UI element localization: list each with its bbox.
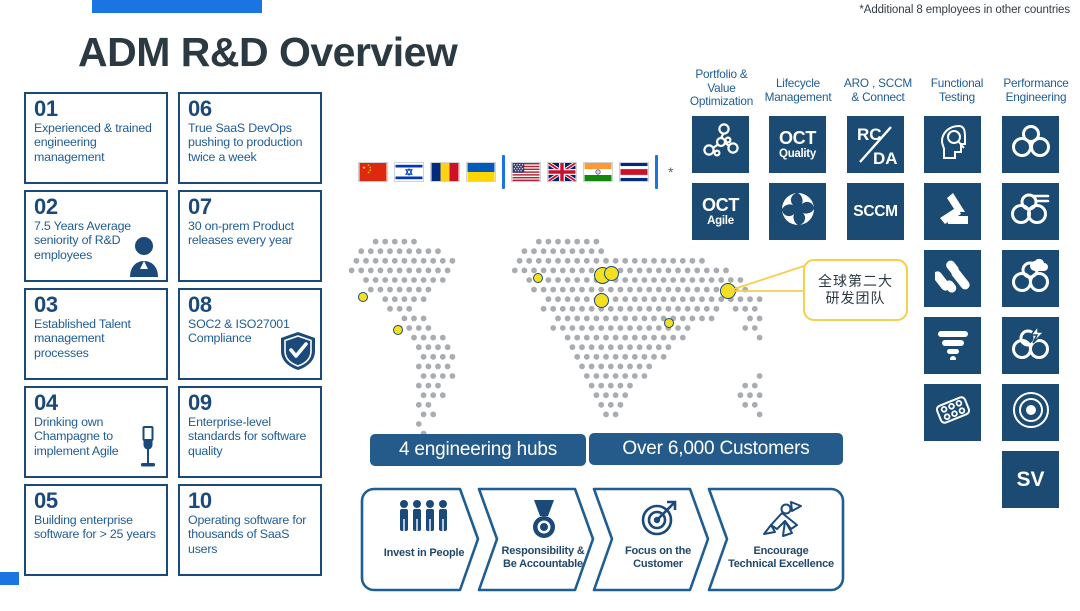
tile-triangle-blocks[interactable]	[924, 183, 981, 240]
card-number: 04	[34, 391, 160, 414]
card-text: 30 on-prem Product releases every year	[188, 219, 314, 248]
card-05[interactable]: 05 Building enterprise software for > 25…	[24, 484, 168, 576]
tile-winged-loops[interactable]	[1002, 183, 1059, 240]
banner-engineering-hubs: 4 engineering hubs	[370, 434, 586, 466]
card-row: 03 Established Talent management process…	[24, 288, 337, 380]
tile-diagonal-bars[interactable]	[924, 250, 981, 307]
value-focus-customer[interactable]: Focus on the Customer	[590, 487, 718, 592]
tile-oct-quality[interactable]: OCT Quality	[769, 116, 826, 173]
card-06[interactable]: 06 True SaaS DevOps pushing to productio…	[178, 92, 322, 184]
costa-rica-flag	[619, 162, 649, 182]
map-pin-south-america	[393, 325, 403, 335]
card-number: 09	[188, 391, 314, 414]
tile-funnel-filter[interactable]	[924, 317, 981, 374]
concentric-target-icon	[1012, 391, 1050, 434]
card-text: Experienced & trained engineering manage…	[34, 121, 160, 164]
china-flag	[358, 162, 388, 182]
network-nodes-icon	[702, 123, 740, 166]
winged-loops-icon	[1010, 192, 1052, 231]
card-02[interactable]: 02 7.5 Years Average seniority of R&D em…	[24, 190, 168, 282]
country-flags: *	[358, 155, 673, 189]
tile-sv[interactable]: SV	[1002, 451, 1059, 508]
footnote-text: *Additional 8 employees in other countri…	[859, 4, 1070, 16]
tile-label: OCT Agile	[702, 196, 739, 228]
card-row: 02 7.5 Years Average seniority of R&D em…	[24, 190, 337, 282]
india-flag	[583, 162, 613, 182]
card-number: 06	[188, 97, 314, 120]
card-number: 02	[34, 195, 160, 218]
tile-label: SCCM	[853, 203, 897, 221]
tile-lightning-loops[interactable]	[1002, 317, 1059, 374]
bottom-accent-mark	[0, 572, 19, 585]
grid-header-lifecycle: Lifecycle Management	[758, 77, 838, 104]
tile-oct-agile[interactable]: OCT Agile	[692, 183, 749, 240]
person-icon	[124, 233, 164, 282]
israel-flag	[394, 162, 424, 182]
card-08[interactable]: 08 SOC2 & ISO27001 Compliance	[178, 288, 322, 380]
head-profile-icon	[937, 123, 969, 166]
card-03[interactable]: 03 Established Talent management process…	[24, 288, 168, 380]
map-pin-europe-b	[604, 266, 619, 281]
champagne-glass-icon	[138, 425, 158, 474]
value-technical-excellence[interactable]: Encourage Technical Excellence	[705, 487, 845, 592]
tile-rc-da[interactable]: RC DA	[847, 116, 904, 173]
usa-flag	[511, 162, 541, 182]
medal-icon	[528, 499, 560, 546]
grid-header-aro-sccm: ARO , SCCM & Connect	[836, 77, 920, 104]
lightning-loops-icon	[1011, 325, 1051, 366]
tile-lifecycle-swirl[interactable]	[769, 183, 826, 240]
card-01[interactable]: 01 Experienced & trained engineering man…	[24, 92, 168, 184]
card-row: 04 Drinking own Champagne to implement A…	[24, 386, 337, 478]
funnel-filter-icon	[936, 326, 970, 365]
dotted-tablet-icon	[934, 394, 972, 431]
tile-cloud-loops[interactable]	[1002, 250, 1059, 307]
card-row: 01 Experienced & trained engineering man…	[24, 92, 337, 184]
value-invest-in-people[interactable]: Invest in People	[360, 487, 488, 592]
card-number: 07	[188, 195, 314, 218]
card-number: 01	[34, 97, 160, 120]
grid-header-functional-testing: Functional Testing	[918, 77, 996, 104]
value-label: Focus on the Customer	[604, 545, 712, 571]
uk-flag	[547, 162, 577, 182]
value-label: Invest in People	[360, 547, 488, 560]
grid-header-performance-engineering: Performance Engineering	[992, 77, 1080, 104]
card-07[interactable]: 07 30 on-prem Product releases every yea…	[178, 190, 322, 282]
callout-line-1: 全球第二大	[818, 273, 893, 291]
world-dot-map	[340, 228, 770, 443]
cloud-loops-icon	[1011, 258, 1051, 299]
shield-check-icon	[280, 331, 316, 376]
trefoil-loops-icon	[1011, 125, 1051, 164]
swirl-spiral-icon	[780, 191, 816, 232]
value-responsibility[interactable]: Responsibility & Be Accountable	[475, 487, 603, 592]
card-number: 10	[188, 489, 314, 512]
slide-root: *Additional 8 employees in other countri…	[0, 0, 1080, 611]
page-title: ADM R&D Overview	[78, 32, 457, 73]
card-row: 05 Building enterprise software for > 25…	[24, 484, 337, 576]
card-text: Established Talent management processes	[34, 317, 160, 360]
svg-text:DA: DA	[873, 149, 898, 168]
map-pin-usa-west	[358, 292, 368, 302]
ukraine-flag	[466, 162, 496, 182]
card-number: 03	[34, 293, 160, 316]
footnote-asterisk: *	[668, 164, 673, 180]
grid-header-portfolio: Portfolio & Value Optimization	[684, 68, 759, 109]
card-text: Operating software for thousands of SaaS…	[188, 513, 314, 556]
tile-portfolio-network[interactable]	[692, 116, 749, 173]
people-group-icon	[396, 499, 452, 538]
highlight-cards: 01 Experienced & trained engineering man…	[24, 92, 337, 582]
top-accent-bar	[92, 0, 262, 13]
card-09[interactable]: 09 Enterprise-level standards for softwa…	[178, 386, 322, 478]
card-10[interactable]: 10 Operating software for thousands of S…	[178, 484, 322, 576]
value-label: Responsibility & Be Accountable	[489, 545, 597, 571]
superhero-icon	[761, 499, 805, 544]
banner-customers: Over 6,000 Customers	[589, 433, 843, 465]
card-04[interactable]: 04 Drinking own Champagne to implement A…	[24, 386, 168, 478]
diagonal-bars-icon	[935, 258, 971, 299]
svg-text:RC: RC	[857, 125, 882, 144]
triangle-blocks-icon	[935, 192, 971, 231]
target-arrow-icon	[640, 499, 678, 542]
tile-label: SV	[1016, 468, 1044, 492]
callout-line-2: 研发团队	[826, 290, 886, 308]
card-text: Enterprise-level standards for software …	[188, 415, 314, 458]
tile-sccm[interactable]: SCCM	[847, 183, 904, 240]
map-pin-india	[664, 318, 674, 328]
tile-performance-trefoil[interactable]	[1002, 116, 1059, 173]
flag-divider	[502, 155, 505, 189]
card-text: True SaaS DevOps pushing to production t…	[188, 121, 314, 164]
card-number: 05	[34, 489, 160, 512]
tile-dotted-tablet[interactable]	[924, 384, 981, 441]
tile-concentric-target[interactable]	[1002, 384, 1059, 441]
romania-flag	[430, 162, 460, 182]
tile-label: OCT Quality	[779, 129, 816, 161]
value-label: Encourage Technical Excellence	[723, 545, 839, 571]
card-number: 08	[188, 293, 314, 316]
map-pin-israel	[594, 293, 609, 308]
tile-functional-testing-head[interactable]	[924, 116, 981, 173]
card-text: Building enterprise software for > 25 ye…	[34, 513, 160, 542]
flag-divider	[655, 155, 658, 189]
map-pin-uk	[533, 273, 543, 283]
callout-connector	[724, 258, 814, 306]
callout-bubble: 全球第二大 研发团队	[803, 259, 908, 321]
